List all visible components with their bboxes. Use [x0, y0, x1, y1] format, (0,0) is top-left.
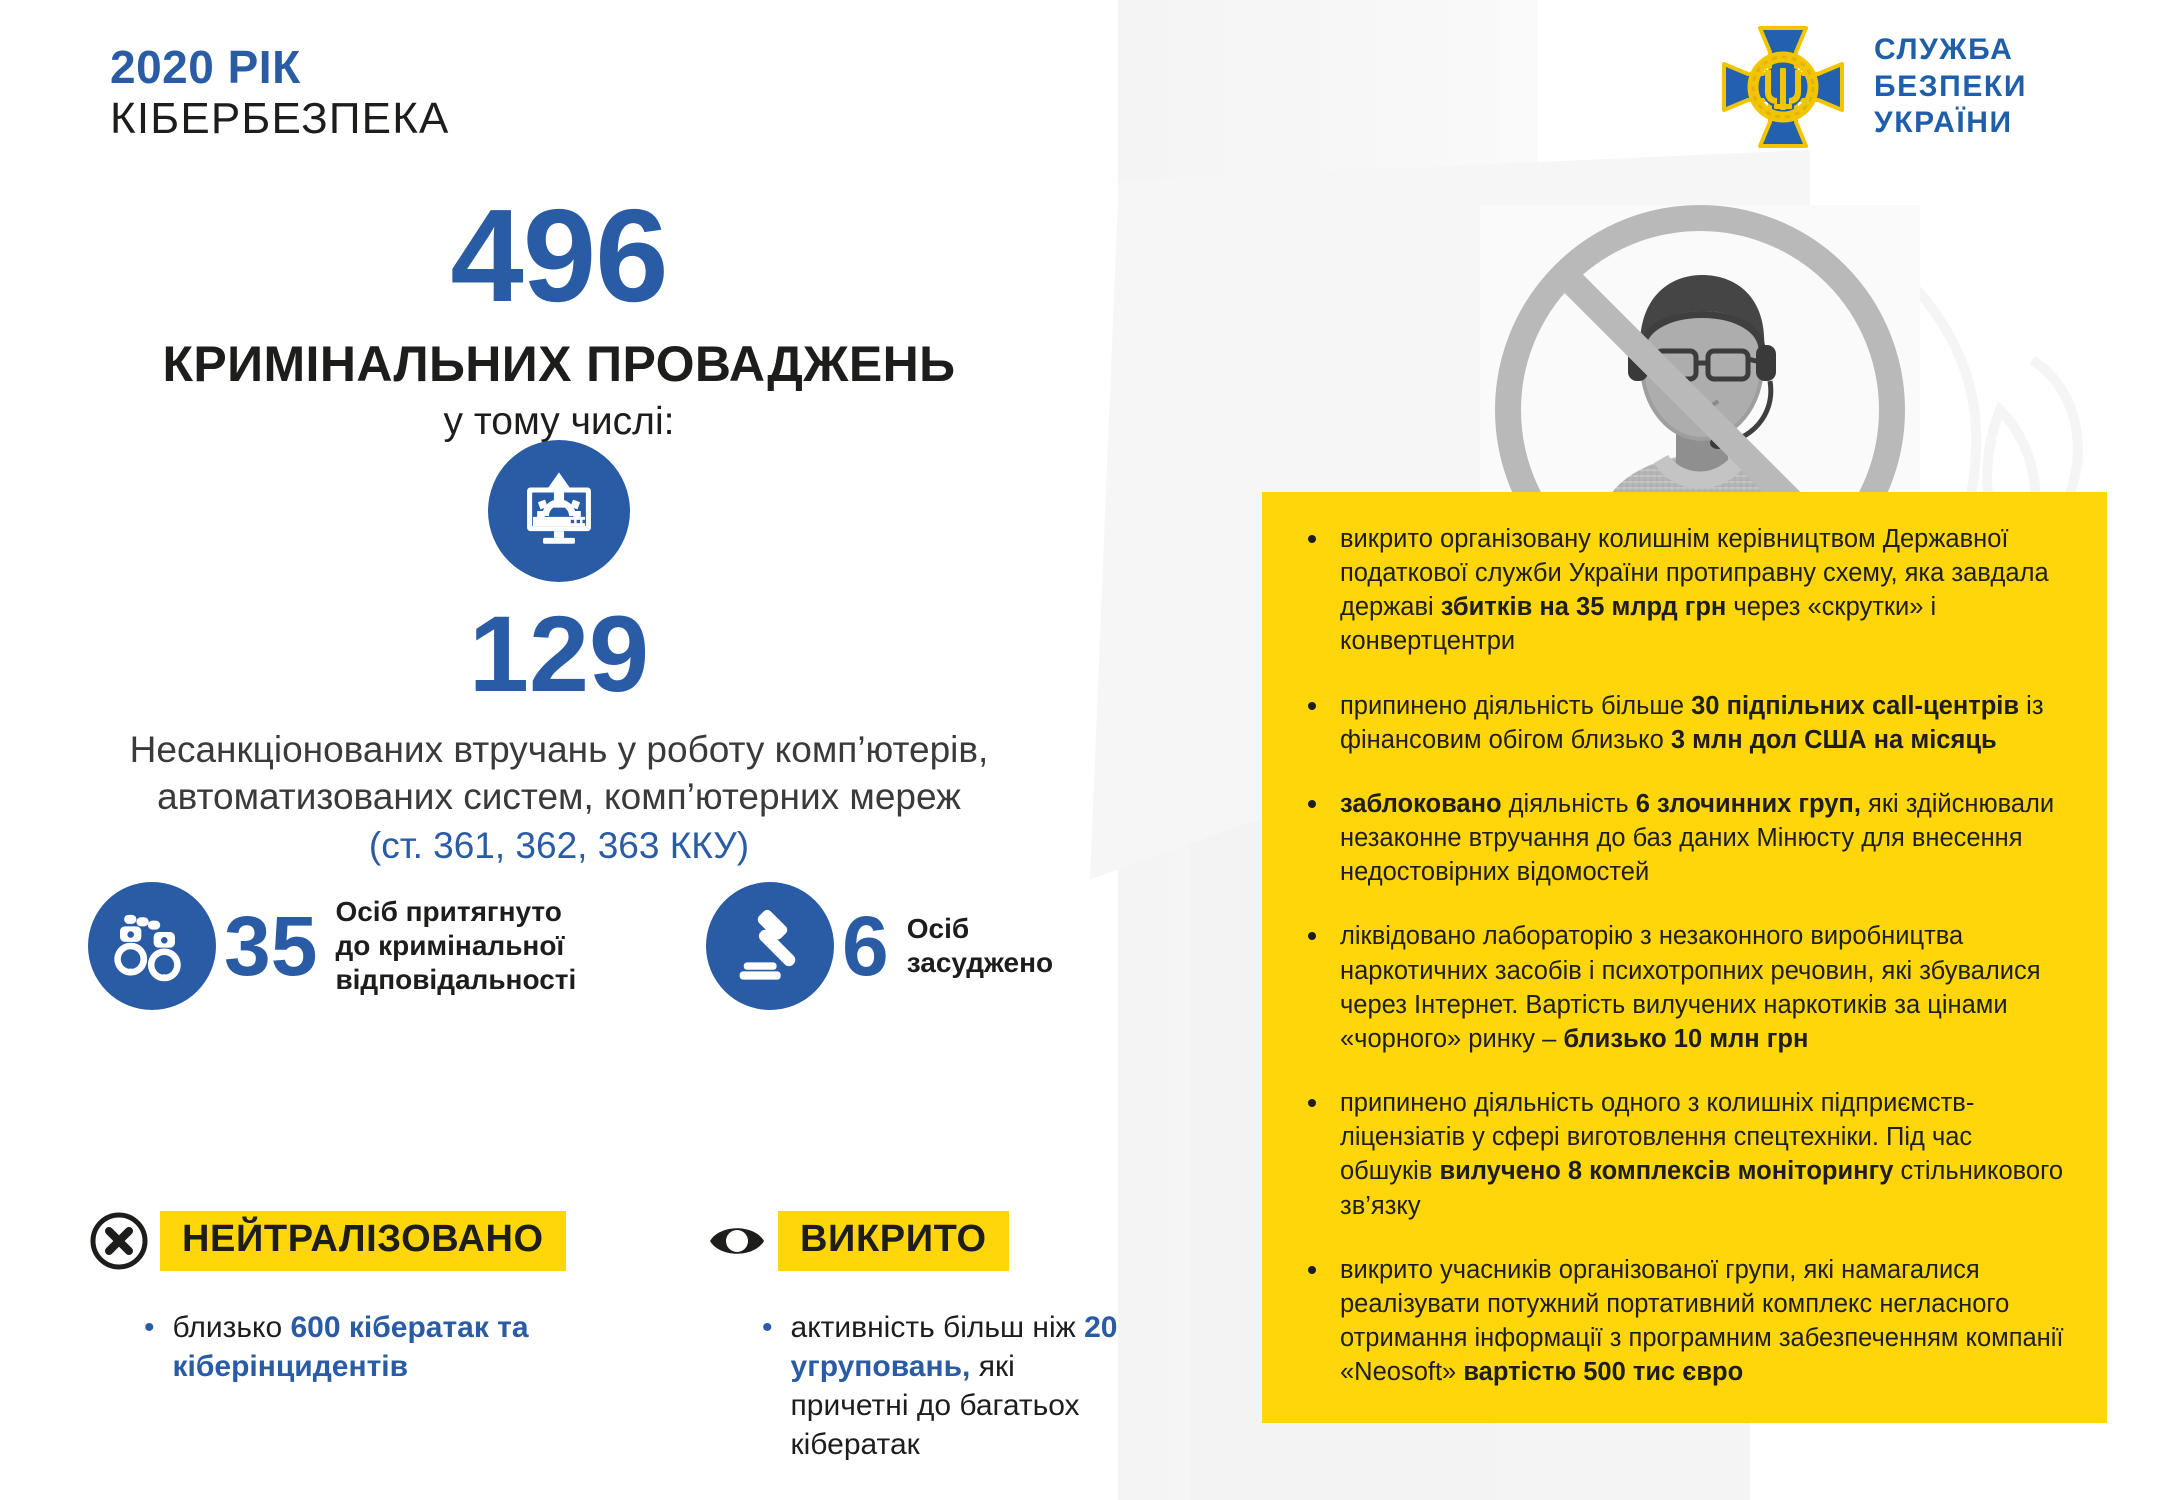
highlights-panel: викрито організовану колишнім керівництв… — [1262, 492, 2107, 1423]
tag-exposed-head: ВИКРИТО — [706, 1210, 1126, 1272]
stat-prosecuted: 35 Осіб притягнуто до кримінальної відпо… — [88, 882, 576, 1010]
page-title-year: 2020 РІК — [110, 42, 450, 94]
highlight-item-blocked-criminal-groups: заблоковано діяльність 6 злочинних груп,… — [1296, 787, 2067, 889]
sbu-cross-emblem-icon — [1718, 22, 1848, 152]
hero-stat-block: 496 КРИМІНАЛЬНИХ ПРОВАДЖЕНЬ у тому числі… — [0, 190, 1118, 443]
sbu-logo-line-1: СЛУЖБА — [1874, 32, 2027, 69]
tag-exposed-label: ВИКРИТО — [778, 1211, 1009, 1271]
highlight-item-drug-lab-liquidated: ліквідовано лабораторію з незаконного ви… — [1296, 919, 2067, 1056]
bullet-dot-icon: • — [144, 1308, 155, 1386]
highlight-emphasis: 6 злочинних груп, — [1636, 790, 1861, 818]
stat-convicted: 6 Осіб засуджено — [706, 882, 1053, 1010]
intrusions-law-reference: (ст. 361, 362, 363 ККУ) — [0, 823, 1118, 869]
hero-subtitle: у тому числі: — [0, 401, 1118, 444]
highlight-emphasis: вилучено 8 комплексів моніторингу — [1439, 1157, 1893, 1185]
tag-neutralized-label: НЕЙТРАЛІЗОВАНО — [160, 1211, 566, 1271]
highlight-emphasis: 3 млн дол США на місяць — [1671, 726, 1997, 754]
sbu-logo-text: СЛУЖБА БЕЗПЕКИ УКРАЇНИ — [1874, 32, 2027, 142]
highlight-text: припинено діяльність більше — [1340, 692, 1691, 720]
intrusions-description-line-1: Несанкціонованих втручань у роботу комп’… — [130, 729, 989, 770]
page-title-topic: КІБЕРБЕЗПЕКА — [110, 94, 450, 145]
highlight-emphasis: заблоковано — [1340, 790, 1502, 818]
tag-exposed-plain: активність більш ніж — [791, 1311, 1085, 1344]
infographic-page: 2020 РІК КІБЕРБЕЗПЕКА — [0, 0, 2167, 1500]
tag-neutralized-plain: близько — [173, 1311, 291, 1344]
circle-x-icon — [88, 1210, 150, 1272]
tag-neutralized-head: НЕЙТРАЛІЗОВАНО — [88, 1210, 608, 1272]
left-content-column: 496 КРИМІНАЛЬНИХ ПРОВАДЖЕНЬ у тому числі… — [0, 190, 1118, 1500]
tag-neutralized-bullet-text: близько 600 кібератак та кіберінцидентів — [173, 1308, 608, 1386]
tag-exposed: ВИКРИТО • активність більш ніж 20 угрупо… — [706, 1210, 1126, 1464]
sbu-logo: СЛУЖБА БЕЗПЕКИ УКРАЇНИ — [1718, 22, 2027, 152]
stat-convicted-text: Осіб засуджено — [907, 912, 1053, 980]
highlight-emphasis: збитків на 35 млрд грн — [1441, 593, 1727, 621]
computer-breach-icon — [488, 440, 630, 582]
tag-neutralized: НЕЙТРАЛІЗОВАНО • близько 600 кібератак т… — [88, 1210, 608, 1386]
highlight-emphasis: близько 10 млн грн — [1563, 1025, 1808, 1053]
highlight-text: діяльність — [1502, 790, 1636, 818]
bullet-dot-icon: • — [762, 1308, 773, 1464]
stat-prosecuted-line-3: відповідальності — [335, 964, 576, 995]
tag-exposed-bullet: • активність більш ніж 20 угруповань, як… — [762, 1308, 1126, 1464]
hero-caption: КРИМІНАЛЬНИХ ПРОВАДЖЕНЬ — [0, 338, 1118, 391]
highlights-list: викрито організовану колишнім керівництв… — [1296, 522, 2067, 1389]
highlight-item-tax-service-scheme: викрито організовану колишнім керівництв… — [1296, 522, 2067, 659]
gavel-icon — [706, 882, 834, 1010]
sbu-logo-line-3: УКРАЇНИ — [1874, 105, 2027, 142]
intrusions-number: 129 — [0, 600, 1118, 708]
highlight-emphasis: вартістю 500 тис євро — [1463, 1358, 1743, 1386]
intrusions-description-line-2: автоматизованих систем, комп’ютерних мер… — [157, 776, 961, 817]
stat-prosecuted-line-2: до кримінальної — [335, 930, 564, 961]
stat-prosecuted-number: 35 — [224, 904, 317, 988]
stat-prosecuted-line-1: Осіб притягнуто — [335, 896, 561, 927]
stat-convicted-line-2: засуджено — [907, 947, 1053, 978]
stat-convicted-number: 6 — [842, 904, 889, 988]
highlight-emphasis: 30 підпільних call-центрів — [1691, 692, 2019, 720]
eye-icon — [706, 1210, 768, 1272]
hero-number: 496 — [0, 190, 1118, 322]
highlight-item-spectech-licensee-stopped: припинено діяльність одного з колишніх п… — [1296, 1086, 2067, 1223]
handcuffs-icon — [88, 882, 216, 1010]
stat-convicted-line-1: Осіб — [907, 913, 969, 944]
page-header: 2020 РІК КІБЕРБЕЗПЕКА — [0, 0, 2167, 175]
intrusions-block: 129 Несанкціонованих втручань у роботу к… — [0, 440, 1118, 869]
title-block: 2020 РІК КІБЕРБЕЗПЕКА — [110, 42, 450, 144]
stat-prosecuted-text: Осіб притягнуто до кримінальної відповід… — [335, 895, 576, 997]
highlight-item-underground-call-centers: припинено діяльність більше 30 підпільни… — [1296, 689, 2067, 757]
tag-exposed-bullet-text: активність більш ніж 20 угруповань, які … — [791, 1308, 1126, 1464]
tag-neutralized-bullet: • близько 600 кібератак та кіберінцидент… — [144, 1308, 608, 1386]
sbu-logo-line-2: БЕЗПЕКИ — [1874, 69, 2027, 106]
highlight-item-neosoft-surveillance-complex: викрито учасників організованої групи, я… — [1296, 1253, 2067, 1390]
